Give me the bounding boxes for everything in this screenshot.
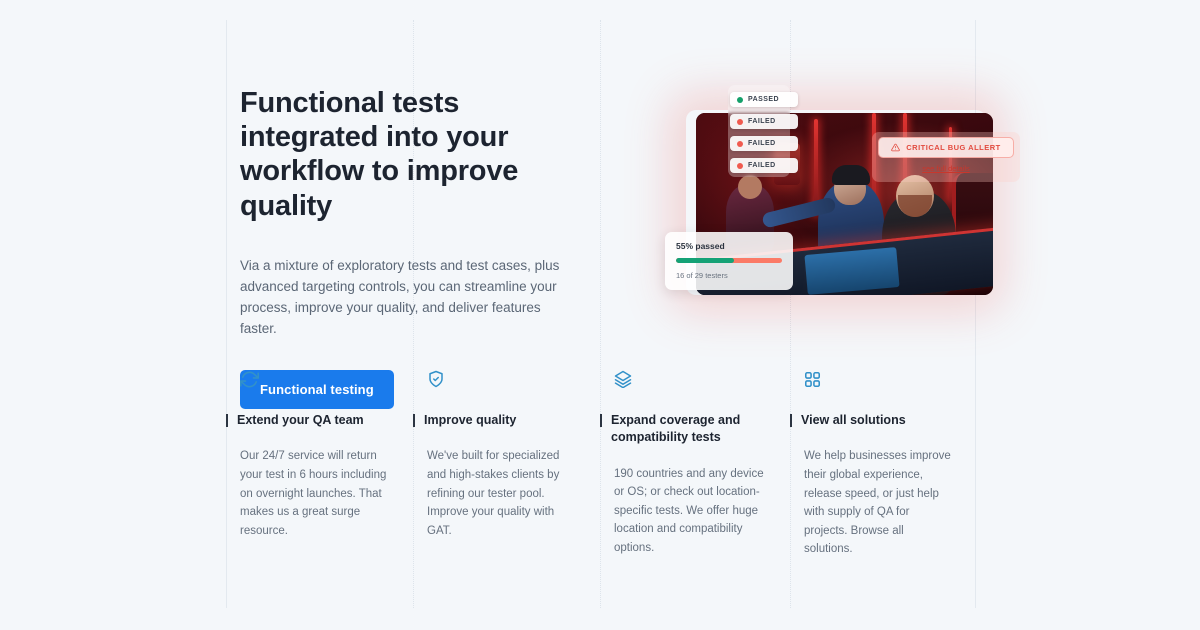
critical-bug-alert-label: CRITICAL BUG ALLERT [906,143,1001,152]
status-pill-list: PASSED FAILED FAILED FAILED [730,92,798,173]
status-dot-passed-icon [737,97,743,103]
feature-accent-tick [226,414,228,427]
status-dot-failed-icon [737,119,743,125]
shield-check-icon [427,368,576,390]
feature-improve-quality[interactable]: Improve quality We've built for speciali… [413,368,600,559]
layers-stack-icon [614,368,766,390]
feature-body: 190 countries and any device or OS; or c… [614,465,766,558]
status-dot-failed-icon [737,163,743,169]
pass-rate-progress-fill [676,258,734,263]
pass-rate-progressbar [676,258,782,263]
hero-artwork: PASSED FAILED FAILED FAILED [660,80,1030,325]
critical-bug-alert: CRITICAL BUG ALLERT see full details [872,132,1020,182]
status-pill-label: FAILED [748,140,776,147]
feature-accent-tick [600,414,602,427]
feature-accent-tick [413,414,415,427]
status-dot-failed-icon [737,141,743,147]
grid-four-icon [804,368,951,390]
feature-accent-tick [790,414,792,427]
feature-expand-coverage[interactable]: Expand coverage and compatibility tests … [600,368,790,559]
warning-triangle-icon [891,143,900,152]
refresh-sync-icon [240,368,389,390]
feature-body: We've built for specialized and high-sta… [427,447,576,540]
feature-view-all-solutions[interactable]: View all solutions We help businesses im… [790,368,975,559]
feature-body: We help businesses improve their global … [804,447,951,559]
feature-extend-your-qa-team[interactable]: Extend your QA team Our 24/7 service wil… [226,368,413,559]
feature-title: Improve quality [424,412,516,429]
feature-title: View all solutions [801,412,906,429]
pass-rate-card: 55% passed 16 of 29 testers [665,232,793,290]
feature-title: Expand coverage and compatibility tests [611,412,766,447]
status-pill: FAILED [730,158,798,173]
page-stage: Functional tests integrated into your wo… [0,0,1200,630]
critical-bug-alert-bar: CRITICAL BUG ALLERT [878,137,1014,158]
status-pill: FAILED [730,136,798,151]
status-pill: FAILED [730,114,798,129]
hero-copy: Functional tests integrated into your wo… [240,86,580,409]
page-title: Functional tests integrated into your wo… [240,86,580,223]
feature-body: Our 24/7 service will return your test i… [240,447,389,540]
feature-title: Extend your QA team [237,412,364,429]
pass-rate-title: 55% passed [676,241,782,251]
status-pill-label: PASSED [748,96,779,103]
feature-columns: Extend your QA team Our 24/7 service wil… [226,368,975,559]
status-pill: PASSED [730,92,798,107]
hero-subtitle: Via a mixture of exploratory tests and t… [240,256,570,340]
status-pill-label: FAILED [748,162,776,169]
status-pill-label: FAILED [748,118,776,125]
pass-rate-note: 16 of 29 testers [676,271,782,280]
see-full-details-link[interactable]: see full details [878,164,1014,173]
